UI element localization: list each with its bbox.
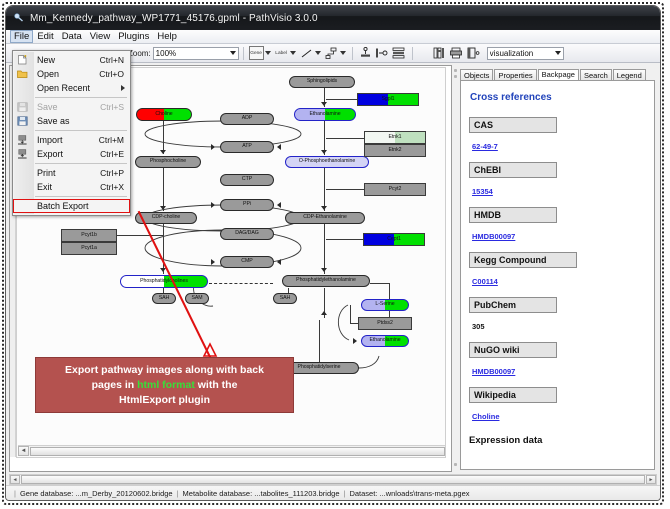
menu-item-label: New (37, 55, 100, 65)
arrowhead-down-icon (321, 102, 327, 106)
node-label: Ethanolamine (309, 112, 340, 117)
node-label: CTP (242, 177, 252, 182)
edge-pcyt2-to-reaction (326, 189, 364, 190)
arrowhead-down-icon (321, 268, 327, 272)
node-atp[interactable]: ATP (220, 141, 274, 153)
menu-data[interactable]: Data (58, 30, 86, 43)
scroll-thumb[interactable] (21, 475, 645, 484)
node-cdp-choline[interactable]: CDP-choline (135, 212, 197, 224)
edge-ophospho-to-cdpethanolamine (324, 168, 325, 211)
node-sam-left[interactable]: SAM (185, 293, 209, 304)
menu-item-label: Open (37, 69, 99, 79)
xref-name-kegg-compound: Kegg Compound (469, 252, 577, 268)
node-dag[interactable]: DAG/DAG (220, 228, 274, 240)
pathvisio-window: Mm_Kennedy_pathway_WP1771_45176.gpml - P… (6, 6, 660, 500)
arrowhead-left-icon (277, 144, 281, 150)
status-dataset-label: Dataset: (349, 489, 377, 498)
menu-separator (35, 163, 127, 164)
label-tool-label: Label (275, 50, 287, 56)
xref-value-chebi[interactable]: 15354 (472, 187, 493, 196)
arrowhead-right-icon (211, 144, 215, 150)
menu-item-import[interactable]: Import Ctrl+M (13, 133, 130, 147)
node-ethanolamine-bottom[interactable]: Ethanolamine (361, 335, 409, 347)
menu-item-label: Batch Export (37, 201, 124, 211)
status-separator: | (177, 489, 179, 498)
arrowhead-right-icon (353, 338, 357, 344)
menu-edit[interactable]: Edit (33, 30, 57, 43)
label-tool-button[interactable]: Label (274, 46, 289, 61)
xref-value-wikipedia[interactable]: Choline (472, 412, 500, 421)
node-label: L-Serine (375, 302, 394, 307)
node-label: SAH (280, 296, 291, 301)
node-pcyt1a[interactable]: Pcyt1a (61, 242, 117, 255)
status-gene-database-value: ...m_Derby_20120602.bridge (75, 489, 172, 498)
menu-item-save-as[interactable]: Save as (13, 114, 130, 128)
node-phosphocholine[interactable]: Phosphocholine (135, 156, 201, 168)
chevron-down-icon[interactable] (315, 51, 321, 55)
arrowhead-down-icon (160, 206, 166, 210)
import-icon (17, 135, 28, 145)
open-folder-icon (17, 69, 28, 79)
menu-item-new[interactable]: New Ctrl+N (13, 53, 130, 67)
callout-line2-post: with the (195, 379, 238, 391)
save-disk-icon (17, 102, 28, 112)
menu-separator (35, 97, 127, 98)
file-menu-dropdown[interactable]: New Ctrl+N Open Ctrl+O Open Recent (12, 50, 131, 216)
datanode-tool-button[interactable]: Gene (249, 46, 264, 60)
stack-tool-button[interactable] (392, 46, 407, 61)
menu-item-label: Save as (37, 116, 124, 126)
window-title: Mm_Kennedy_pathway_WP1771_45176.gpml - P… (30, 13, 318, 24)
node-pcyt2[interactable]: Pcyt2 (364, 183, 426, 196)
menu-item-exit[interactable]: Exit Ctrl+X (13, 180, 130, 194)
node-label: PPi (243, 202, 251, 207)
align-left-tool-button[interactable] (375, 46, 390, 61)
node-sgpl1[interactable]: Sgpl1 (357, 93, 419, 106)
callout-line1: Export pathway images along with back (65, 364, 264, 376)
column-tool-button[interactable] (432, 46, 447, 61)
scroll-left-button[interactable]: ◄ (18, 446, 29, 456)
xref-name-nugo-wiki: NuGO wiki (469, 342, 557, 358)
chevron-down-icon (230, 51, 236, 55)
toolbar-divider (243, 47, 244, 60)
menu-item-accel: Ctrl+N (100, 55, 130, 65)
save-as-icon (17, 116, 28, 126)
edge-cdpethanolamine-to-pe (324, 224, 325, 274)
cross-references-heading: Cross references (470, 92, 646, 103)
edge-etnk-to-reaction (326, 138, 364, 139)
status-metabolite-database-value: ...tabolites_111203.bridge (254, 489, 339, 498)
node-label: Pcyt1a (81, 246, 97, 251)
node-label: Etnk1 (388, 135, 401, 140)
toolbar-divider (352, 47, 353, 60)
edge-phosphocholine-to-cdpcholine (163, 168, 164, 211)
node-etnk1[interactable]: Etnk1 (364, 131, 426, 144)
edge-lserine-vertical (350, 305, 351, 323)
expression-data-heading: Expression data (469, 435, 646, 446)
scroll-thumb[interactable] (30, 447, 445, 456)
menu-item-label: Open Recent (37, 83, 121, 93)
xref-name-chebi: ChEBI (469, 162, 557, 178)
node-sah-right[interactable]: SAH (273, 293, 297, 304)
node-cmp[interactable]: CMP (220, 256, 274, 268)
zoom-label: Zoom: (128, 49, 151, 58)
node-choline-top[interactable]: Choline (136, 108, 192, 121)
status-dataset-value: ...wnloads\trans-meta.pgex (379, 489, 469, 498)
chevron-down-icon[interactable] (340, 51, 346, 55)
datanode-tool-label: Gene (250, 50, 262, 56)
canvas-horizontal-scrollbar[interactable]: ◄ ► (18, 445, 446, 456)
zoom-value: 100% (156, 49, 227, 58)
menu-item-print[interactable]: Print Ctrl+P (13, 166, 130, 180)
status-metabolite-database-label: Metabolite database: (183, 489, 253, 498)
sidebar-toggle-button[interactable] (466, 46, 481, 61)
node-ctp[interactable]: CTP (220, 174, 274, 186)
status-separator: | (14, 489, 16, 498)
node-label: SAM (191, 296, 202, 301)
node-label: Sphingolipids (307, 79, 337, 84)
edge-pe-right-branch (370, 283, 390, 284)
arrowhead-down-icon (160, 268, 166, 272)
line-tool-button[interactable] (299, 46, 314, 61)
status-gene-database-label: Gene database: (20, 489, 73, 498)
visualization-combo[interactable]: visualization (487, 47, 564, 60)
node-ptdss2[interactable]: Ptdss2 (358, 317, 412, 330)
edge-dashed-pc-pe (209, 283, 273, 284)
xref-value-cas[interactable]: 62-49-7 (472, 142, 498, 151)
side-panel: Objects Properties Backpage Search Legen… (458, 65, 657, 472)
export-icon (17, 149, 28, 159)
menu-item-open-recent[interactable]: Open Recent (13, 81, 130, 95)
menu-item-label: Save (37, 102, 100, 112)
menu-item-accel: Ctrl+M (99, 135, 130, 145)
node-label: Phosphatidylcholines (140, 279, 188, 284)
scroll-left-button[interactable]: ◄ (10, 475, 20, 484)
node-label: Phosphatidylethanolamine (296, 278, 356, 283)
arrowhead-left-icon (277, 259, 281, 265)
xref-value-hmdb[interactable]: HMDB00097 (472, 232, 515, 241)
arrowhead-up-icon (321, 311, 327, 315)
arrowhead-down-icon (160, 150, 166, 154)
arrowhead-right-icon (211, 202, 215, 208)
menu-item-accel: Ctrl+E (100, 149, 130, 159)
screenshot-frame: Mm_Kennedy_pathway_WP1771_45176.gpml - P… (0, 0, 670, 509)
node-label: Phosphatidylserine (298, 365, 341, 370)
xref-name-pubchem: PubChem (469, 297, 557, 313)
menu-item-label: Export (37, 149, 100, 159)
annotation-callout: Export pathway images along with back pa… (35, 357, 294, 413)
menu-item-accel: Ctrl+P (100, 168, 130, 178)
node-label: O-Phosphoethanolamine (299, 159, 355, 164)
xref-value-pubchem: 305 (472, 322, 485, 331)
edge-sgpl1-to-reaction (326, 99, 357, 100)
node-ethanolamine-top[interactable]: Ethanolamine (294, 108, 356, 121)
node-label: Ptdss2 (377, 321, 393, 326)
menu-item-save: Save Ctrl+S (13, 100, 130, 114)
menu-file[interactable]: File (10, 30, 33, 43)
chevron-down-icon (555, 51, 561, 55)
node-label: Pcyt2 (389, 187, 402, 192)
menu-item-batch-export[interactable]: Batch Export (13, 199, 130, 213)
visualization-value: visualization (490, 49, 552, 58)
node-label: Choline (155, 112, 172, 117)
node-pcyt1b[interactable]: Pcyt1b (61, 229, 117, 242)
interaction-tool-button[interactable] (324, 46, 339, 61)
node-label: Etnk2 (388, 148, 401, 153)
edge-choline-to-phosphocholine (163, 120, 164, 154)
menu-plugins[interactable]: Plugins (114, 30, 153, 43)
align-top-tool-button[interactable] (358, 46, 373, 61)
menu-item-export[interactable]: Export Ctrl+E (13, 147, 130, 161)
zoom-combo[interactable]: 100% (153, 47, 239, 60)
callout-highlight: html format (137, 379, 195, 391)
xref-value-kegg-compound[interactable]: C00114 (472, 277, 498, 286)
menu-separator (35, 196, 127, 197)
node-l-serine[interactable]: L-Serine (361, 299, 409, 311)
menu-item-accel: Ctrl+X (100, 182, 130, 192)
new-document-icon (17, 55, 28, 65)
node-cept1[interactable]: Cept1 (363, 233, 425, 246)
node-label: ATP (242, 144, 252, 149)
callout-line2-pre: pages in (92, 379, 138, 391)
node-label: Pcyt1b (81, 233, 97, 238)
edge-cept1-to-reaction (326, 239, 363, 240)
toolbar-divider (412, 47, 413, 60)
node-adp[interactable]: ADP (220, 113, 274, 125)
pathvisio-app-icon (13, 12, 25, 24)
menu-item-accel: Ctrl+S (100, 102, 130, 112)
node-ppi[interactable]: PPi (220, 199, 274, 211)
chevron-down-icon[interactable] (290, 51, 296, 55)
node-label: Phosphocholine (150, 159, 186, 164)
print-tool-button[interactable] (449, 46, 464, 61)
node-sah-left[interactable]: SAH (152, 293, 176, 304)
menubar: File Edit Data View Plugins Help (6, 30, 660, 44)
submenu-arrow-icon (121, 85, 125, 91)
arrowhead-right-icon (211, 259, 215, 265)
scroll-right-button[interactable]: ► (646, 475, 656, 484)
node-etnk2[interactable]: Etnk2 (364, 144, 426, 157)
backpage-content: Cross references CAS 62-49-7 ChEBI 15354… (460, 80, 655, 470)
menu-item-label: Print (37, 168, 100, 178)
xref-name-cas: CAS (469, 117, 557, 133)
edge-cdpcholine-to-pc (163, 224, 164, 274)
side-panel-tabstrip: Objects Properties Backpage Search Legen… (460, 67, 655, 81)
arrowhead-left-icon (277, 202, 281, 208)
menu-view[interactable]: View (86, 30, 114, 43)
menu-help[interactable]: Help (153, 30, 181, 43)
menu-separator (35, 130, 127, 131)
node-label: CDP-choline (152, 215, 181, 220)
node-label: Cept1 (387, 237, 401, 242)
xref-value-nugo-wiki[interactable]: HMDB00097 (472, 367, 515, 376)
edge-pcyt1-to-reaction (117, 235, 163, 236)
node-label: DAG/DAG (235, 231, 259, 236)
node-label: ADP (242, 116, 253, 121)
node-label: CDP-Ethanolamine (303, 215, 347, 220)
window-horizontal-scrollbar[interactable]: ◄ ► (9, 474, 657, 485)
node-cdp-ethanolamine[interactable]: CDP-Ethanolamine (285, 212, 365, 224)
arrowhead-down-icon (321, 150, 327, 154)
xref-name-hmdb: HMDB (469, 207, 557, 223)
chevron-down-icon[interactable] (265, 51, 271, 55)
callout-line3: HtmlExport plugin (119, 394, 210, 406)
node-label: SAH (159, 296, 170, 301)
statusbar: | Gene database: ...m_Derby_20120602.bri… (6, 485, 660, 500)
node-sphingolipids[interactable]: Sphingolipids (289, 76, 355, 88)
edge-ps-to-pe-branch (319, 320, 320, 362)
node-label: Sgpl1 (381, 97, 394, 102)
menu-item-label: Exit (37, 182, 100, 192)
status-separator: | (343, 489, 345, 498)
node-o-phosphoethanolamine[interactable]: O-Phosphoethanolamine (285, 156, 369, 168)
menu-item-accel: Ctrl+O (99, 69, 130, 79)
node-phosphatidylcholines[interactable]: Phosphatidylcholines (120, 275, 208, 288)
node-label: CMP (241, 259, 252, 264)
node-label: Ethanolamine (369, 338, 400, 343)
menu-item-label: Import (37, 135, 99, 145)
menu-item-open[interactable]: Open Ctrl+O (13, 67, 130, 81)
window-titlebar: Mm_Kennedy_pathway_WP1771_45176.gpml - P… (6, 6, 660, 30)
node-phosphatidylethanolamine[interactable]: Phosphatidylethanolamine (282, 275, 370, 287)
arrowhead-down-icon (321, 206, 327, 210)
xref-name-wikipedia: Wikipedia (469, 387, 557, 403)
